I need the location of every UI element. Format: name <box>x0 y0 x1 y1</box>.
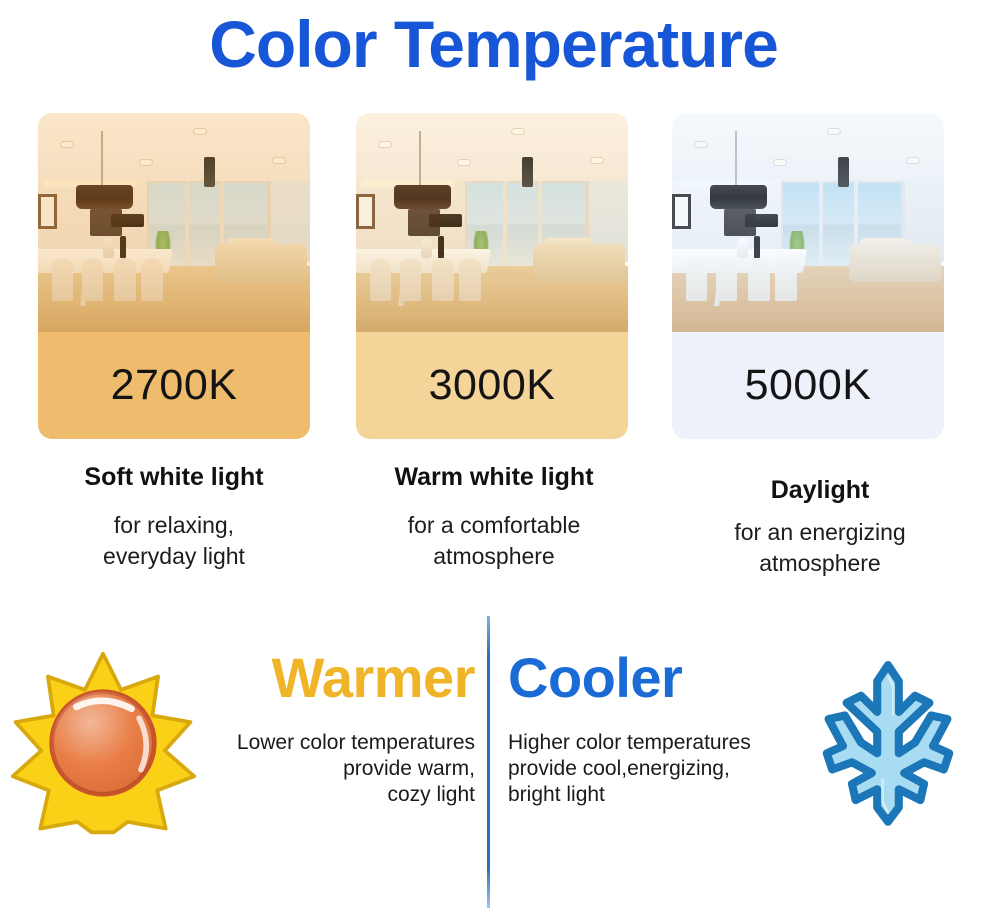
caption-subtitle-2700k-line2: everyday light <box>24 541 324 572</box>
warmer-description-line1: Lower color temperatures <box>190 730 475 756</box>
sun-icon <box>8 648 198 838</box>
snowflake-icon <box>798 650 978 835</box>
caption-subtitle-3000k: for a comfortable atmosphere <box>344 510 644 572</box>
kelvin-label-2700k: 2700K <box>38 332 310 439</box>
caption-subtitle-5000k-line1: for an energizing <box>670 517 970 548</box>
warmer-description-line2: provide warm, <box>190 756 475 782</box>
caption-subtitle-2700k-line1: for relaxing, <box>24 510 324 541</box>
caption-subtitle-3000k-line2: atmosphere <box>344 541 644 572</box>
cooler-description-line3: bright light <box>508 782 808 808</box>
warmer-description: Lower color temperatures provide warm, c… <box>190 730 475 808</box>
cooler-description-line1: Higher color temperatures <box>508 730 808 756</box>
warmer-description-line3: cozy light <box>190 782 475 808</box>
room-photo-5000k <box>672 113 944 332</box>
caption-subtitle-5000k-line2: atmosphere <box>670 548 970 579</box>
caption-title-2700k: Soft white light <box>24 460 324 494</box>
color-temperature-panels: 2700K <box>0 113 987 453</box>
page-title: Color Temperature <box>0 2 987 86</box>
cooler-heading: Cooler <box>508 646 808 710</box>
cooler-description: Higher color temperatures provide cool,e… <box>508 730 808 808</box>
panel-2700k[interactable]: 2700K <box>38 113 310 439</box>
panel-captions: Soft white light for relaxing, everyday … <box>0 460 987 600</box>
kelvin-label-5000k: 5000K <box>672 332 944 439</box>
panel-5000k[interactable]: 5000K <box>672 113 944 439</box>
caption-subtitle-2700k: for relaxing, everyday light <box>24 510 324 572</box>
warmer-block: Warmer Lower color temperatures provide … <box>190 646 475 808</box>
kelvin-label-3000k: 3000K <box>356 332 628 439</box>
caption-5000k: Daylight for an energizing atmosphere <box>670 460 970 579</box>
room-photo-2700k <box>38 113 310 332</box>
caption-title-3000k: Warm white light <box>344 460 644 494</box>
caption-subtitle-5000k: for an energizing atmosphere <box>670 517 970 579</box>
warm-cool-divider <box>487 616 490 908</box>
cooler-block: Cooler Higher color temperatures provide… <box>508 646 808 808</box>
room-photo-3000k <box>356 113 628 332</box>
warmer-heading: Warmer <box>190 646 475 710</box>
caption-subtitle-3000k-line1: for a comfortable <box>344 510 644 541</box>
panel-3000k[interactable]: 3000K <box>356 113 628 439</box>
caption-title-5000k: Daylight <box>670 473 970 507</box>
caption-3000k: Warm white light for a comfortable atmos… <box>344 460 644 572</box>
caption-2700k: Soft white light for relaxing, everyday … <box>24 460 324 572</box>
cooler-description-line2: provide cool,energizing, <box>508 756 808 782</box>
